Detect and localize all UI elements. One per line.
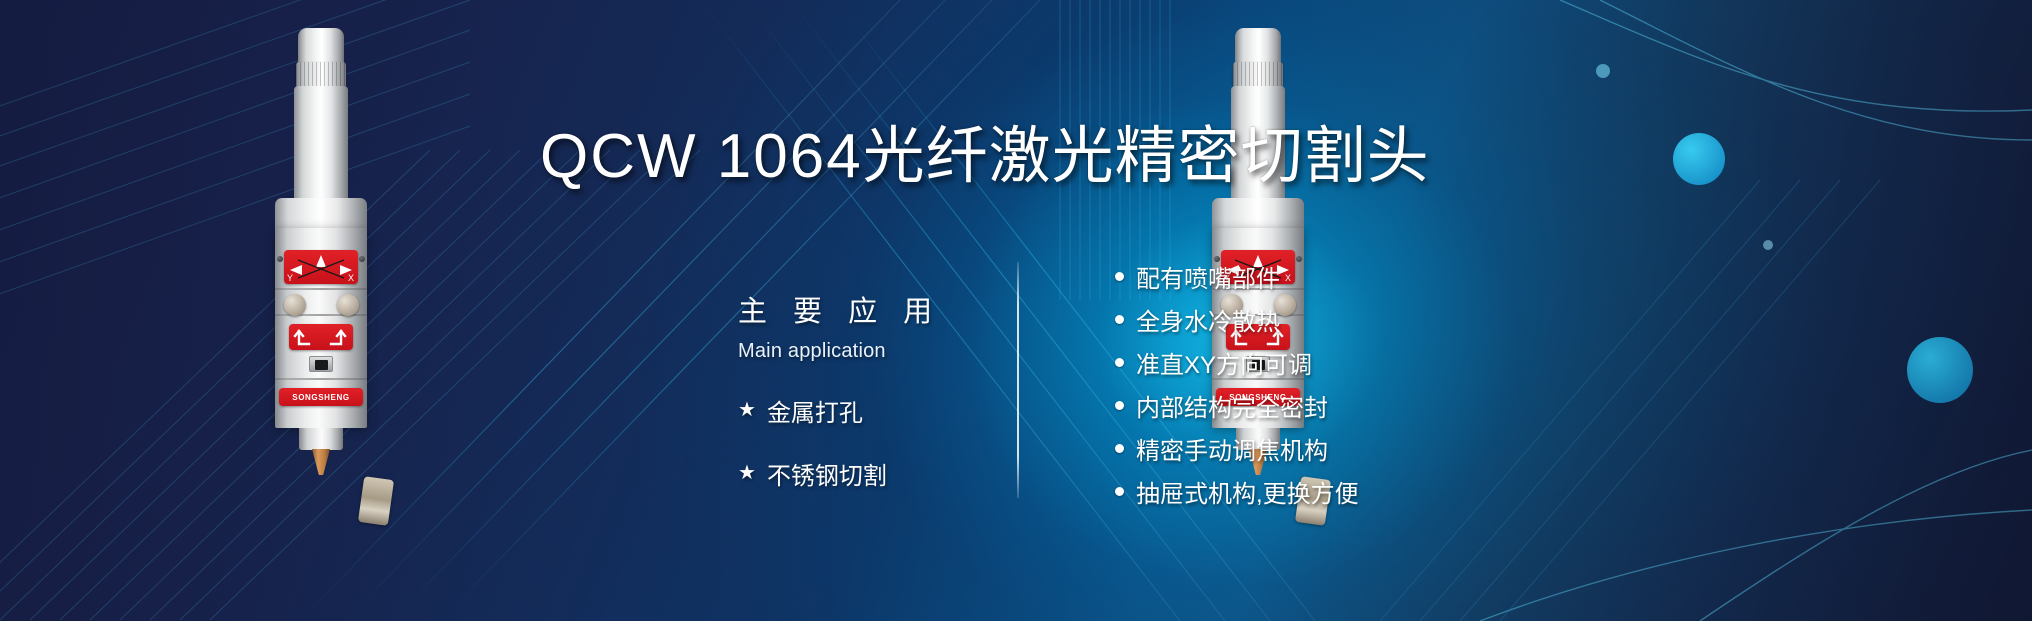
list-item-label: 配有喷嘴部件: [1136, 259, 1280, 294]
list-item: ★ 不锈钢切割: [738, 456, 968, 491]
bokeh-circle-2: [1907, 337, 1973, 403]
feature-list: 配有喷嘴部件 全身水冷散热 准直XY方向可调 内部结构完全密封 精密手动调焦机构…: [1115, 255, 1359, 513]
product-knurled-ring: [1233, 62, 1283, 88]
product-image-left: Y X SONGSHENG: [256, 28, 386, 478]
main-application-heading-en: Main application: [738, 340, 968, 363]
product-screw: [359, 256, 365, 262]
list-item: 全身水冷散热: [1115, 298, 1359, 341]
product-nozzle-base: [299, 428, 343, 450]
product-upper-tube: [294, 86, 348, 204]
list-item: ★ 金属打孔: [738, 393, 968, 428]
list-item: 内部结构完全密封: [1115, 384, 1359, 427]
main-application-list: ★ 金属打孔 ★ 不锈钢切割: [738, 393, 968, 491]
banner-title-ascii: QCW 1064: [540, 122, 863, 191]
list-item: 配有喷嘴部件: [1115, 255, 1359, 298]
product-banner: Y X SONGSHENG: [0, 0, 2032, 621]
product-brand-label: SONGSHENG: [279, 388, 363, 406]
product-nozzle-tip: [312, 449, 330, 475]
list-item-label: 精密手动调焦机构: [1136, 431, 1328, 466]
bullet-icon: [1115, 401, 1124, 410]
product-adjust-knob: [284, 294, 306, 316]
svg-text:X: X: [348, 273, 354, 283]
banner-title-cjk: 光纤激光精密切割头: [863, 122, 1430, 191]
list-item-label: 内部结构完全密封: [1136, 388, 1328, 423]
star-icon: ★: [738, 400, 756, 420]
product-shoulder: [275, 198, 367, 232]
banner-title: QCW 1064光纤激光精密切割头: [540, 126, 1430, 188]
star-icon: ★: [738, 463, 756, 483]
product-adjust-knob: [337, 294, 359, 316]
main-application-block: 主 要 应 用 Main application ★ 金属打孔 ★ 不锈钢切割: [738, 295, 968, 519]
product-body: Y X SONGSHENG: [275, 228, 367, 428]
svg-text:Y: Y: [287, 273, 293, 283]
product-knurled-ring: [296, 62, 346, 88]
list-item: 抽屉式机构,更换方便: [1115, 470, 1359, 513]
vertical-divider: [1017, 262, 1019, 498]
bokeh-circle-4: [1763, 240, 1773, 250]
bullet-icon: [1115, 487, 1124, 496]
product-side-connector: [358, 476, 394, 526]
bullet-icon: [1115, 315, 1124, 324]
bokeh-circle-3: [1596, 64, 1610, 78]
product-view-window: [309, 356, 333, 372]
product-direction-label: [289, 324, 353, 350]
list-item-label: 不锈钢切割: [767, 456, 887, 491]
list-item: 准直XY方向可调: [1115, 341, 1359, 384]
product-screw: [277, 256, 283, 262]
list-item-label: 全身水冷散热: [1136, 302, 1280, 337]
bullet-icon: [1115, 358, 1124, 367]
bokeh-circle-1: [1673, 133, 1725, 185]
bullet-icon: [1115, 272, 1124, 281]
list-item-label: 准直XY方向可调: [1136, 345, 1312, 380]
list-item-label: 抽屉式机构,更换方便: [1136, 474, 1359, 509]
list-item-label: 金属打孔: [767, 393, 863, 428]
bullet-icon: [1115, 444, 1124, 453]
main-application-heading-cn: 主 要 应 用: [738, 295, 968, 330]
product-shoulder: [1212, 198, 1304, 232]
product-axis-label: Y X: [284, 250, 358, 284]
list-item: 精密手动调焦机构: [1115, 427, 1359, 470]
